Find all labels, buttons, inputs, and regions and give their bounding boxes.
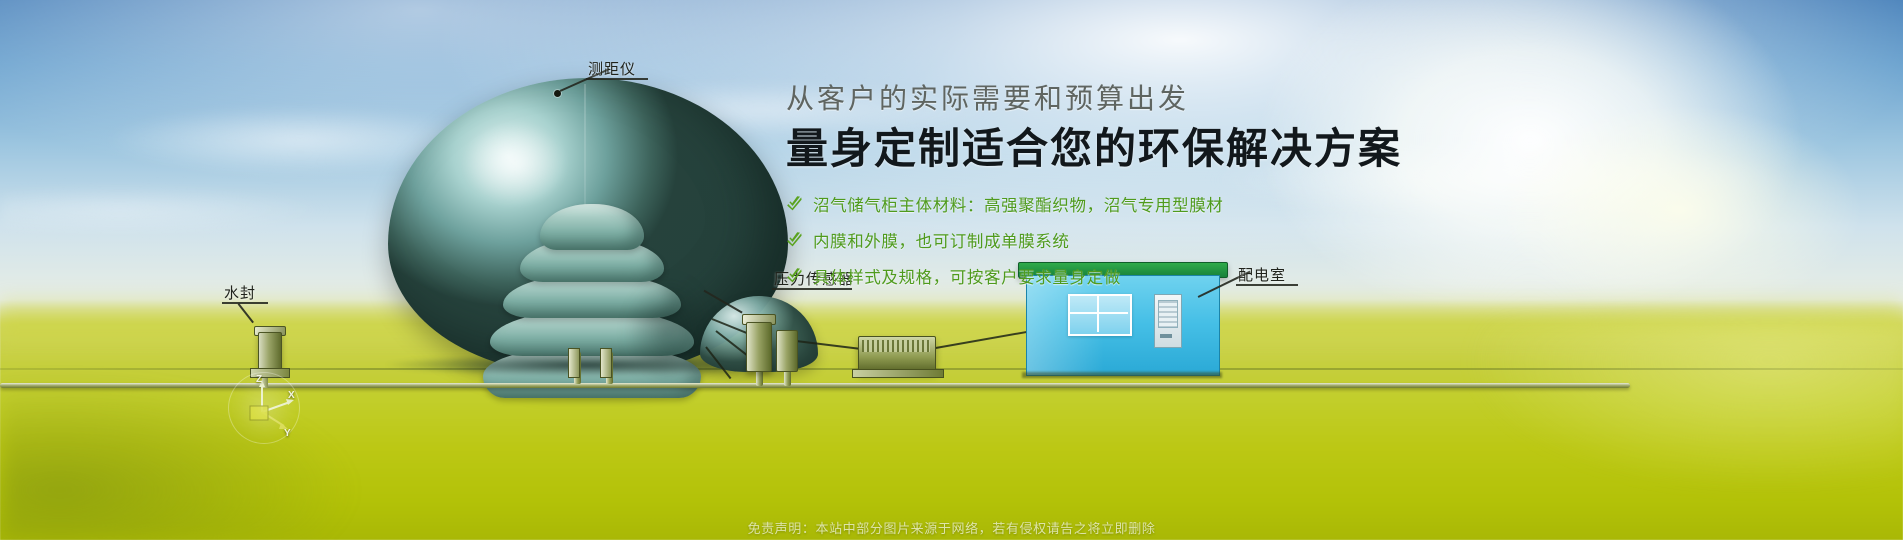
headline-subtitle: 从客户的实际需要和预算出发 bbox=[786, 82, 1486, 116]
check-icon bbox=[786, 267, 803, 284]
dome-inner-shadow bbox=[458, 208, 728, 408]
disclaimer-text: 免责声明：本站中部分图片来源于网络，若有侵权请告之将立即删除 bbox=[0, 518, 1903, 537]
feature-text: 沼气储气柜主体材料：高强聚酯织物，沼气专用型膜材 bbox=[813, 192, 1223, 216]
window-mullion bbox=[1068, 312, 1128, 314]
check-icon bbox=[786, 231, 803, 248]
building-window bbox=[1068, 294, 1132, 336]
feature-text: 具体样式及规格，可按客户要求量身定做 bbox=[813, 264, 1121, 288]
field-shadow-left bbox=[0, 330, 420, 540]
field-highlight-right bbox=[1350, 320, 1903, 540]
building-base-shadow bbox=[1022, 372, 1222, 378]
label-water-seal: 水封 bbox=[224, 282, 256, 303]
label-rangefinder: 测距仪 bbox=[588, 58, 636, 79]
headline-title: 量身定制适合您的环保解决方案 bbox=[786, 125, 1486, 172]
water-seal-unit bbox=[258, 332, 282, 372]
support-post bbox=[600, 348, 612, 378]
axis-label-y: Y bbox=[284, 428, 291, 439]
feature-list: 沼气储气柜主体材料：高强聚酯织物，沼气专用型膜材 内膜和外膜，也可订制成单膜系统 bbox=[786, 192, 1486, 288]
axis-label-z: Z bbox=[256, 374, 262, 385]
feature-text: 内膜和外膜，也可订制成单膜系统 bbox=[813, 228, 1070, 252]
pressure-sensor-unit bbox=[746, 322, 772, 372]
cabinet-knob bbox=[1160, 334, 1172, 338]
label-water-seal-underline bbox=[222, 302, 268, 304]
marketing-copy: 从客户的实际需要和预算出发 量身定制适合您的环保解决方案 沼气储气柜主体材料：高… bbox=[786, 82, 1486, 300]
axis-gizmo: Z X Y bbox=[228, 372, 300, 444]
blower-fins bbox=[862, 340, 930, 352]
feature-item: 沼气储气柜主体材料：高强聚酯织物，沼气专用型膜材 bbox=[786, 192, 1486, 216]
banner-stage: 测距仪 水封 压力传感器 配电室 Z X Y 从客户的实际需要和预算出发 量身定… bbox=[0, 0, 1903, 540]
label-rangefinder-underline bbox=[586, 78, 648, 80]
check-icon bbox=[786, 195, 803, 212]
pressure-sensor-secondary bbox=[776, 330, 798, 372]
feature-item: 内膜和外膜，也可订制成单膜系统 bbox=[786, 228, 1486, 252]
cabinet-panel bbox=[1158, 300, 1178, 328]
blower-base bbox=[852, 369, 944, 378]
feature-item: 具体样式及规格，可按客户要求量身定做 bbox=[786, 264, 1486, 288]
support-post bbox=[568, 348, 580, 378]
axis-label-x: X bbox=[288, 390, 295, 401]
